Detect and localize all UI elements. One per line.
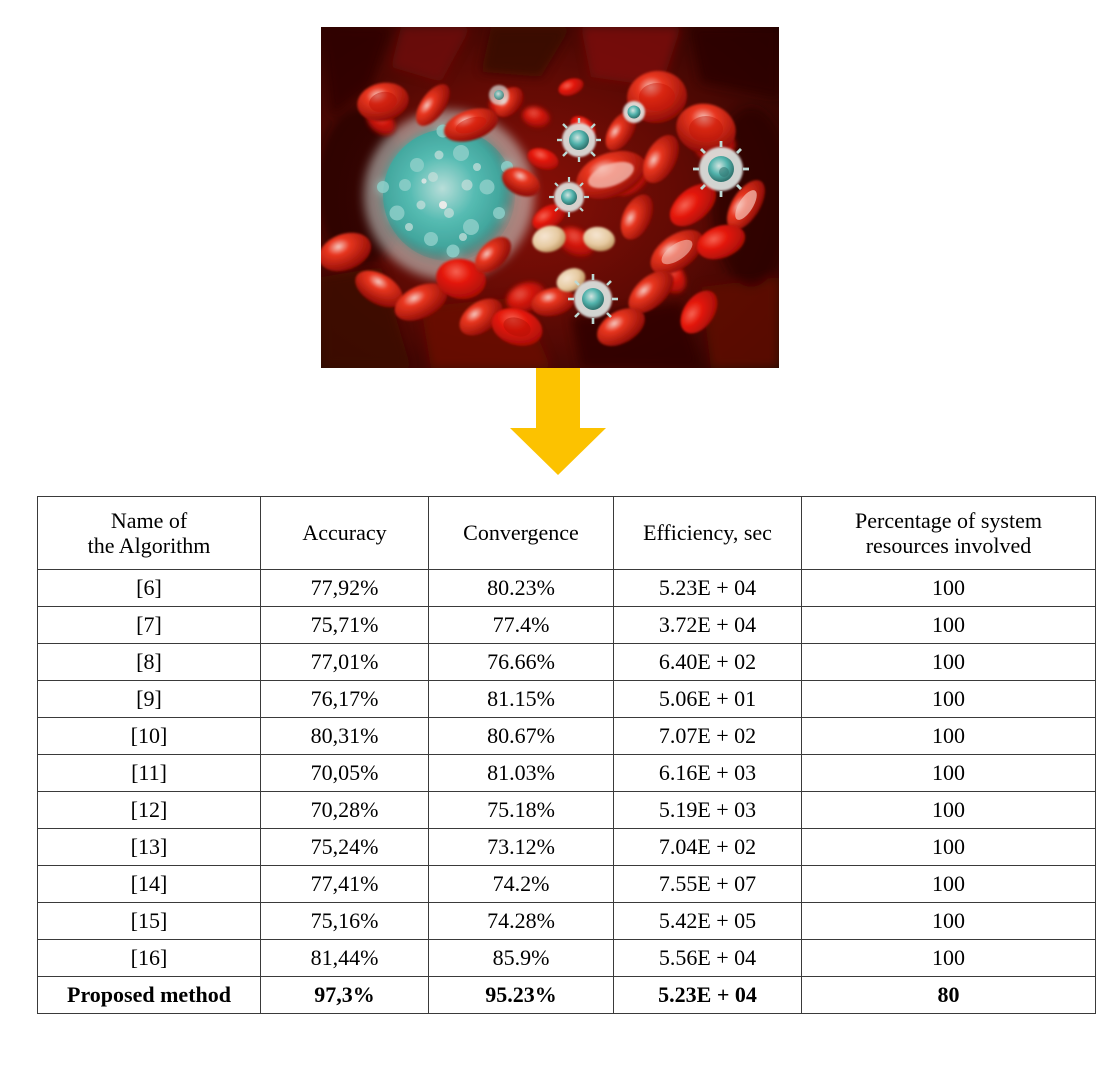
table-row: [8]77,01%76.66%6.40E + 02100	[38, 644, 1096, 681]
cell-percentage: 100	[802, 644, 1096, 681]
table-row: [6]77,92%80.23%5.23E + 04100	[38, 570, 1096, 607]
blood-cells-virus-illustration	[321, 27, 779, 368]
cell-algorithm-name: [8]	[38, 644, 261, 681]
table-row: [12]70,28%75.18%5.19E + 03100	[38, 792, 1096, 829]
table-body: [6]77,92%80.23%5.23E + 04100[7]75,71%77.…	[38, 570, 1096, 1014]
column-header-accuracy: Accuracy	[261, 497, 429, 570]
down-arrow-icon	[508, 368, 608, 476]
cell-accuracy: 70,28%	[261, 792, 429, 829]
cell-algorithm-name: [7]	[38, 607, 261, 644]
table-row: [9]76,17%81.15%5.06E + 01100	[38, 681, 1096, 718]
cell-convergence: 74.2%	[429, 866, 614, 903]
cell-percentage: 100	[802, 792, 1096, 829]
cell-efficiency: 7.04E + 02	[614, 829, 802, 866]
cell-efficiency: 6.16E + 03	[614, 755, 802, 792]
cell-convergence: 95.23%	[429, 977, 614, 1014]
table-row: [13]75,24%73.12%7.04E + 02100	[38, 829, 1096, 866]
cell-percentage: 100	[802, 940, 1096, 977]
cell-efficiency: 5.06E + 01	[614, 681, 802, 718]
cell-algorithm-name: [11]	[38, 755, 261, 792]
cell-efficiency: 6.40E + 02	[614, 644, 802, 681]
column-header-percentage: Percentage of system resources involved	[802, 497, 1096, 570]
cell-convergence: 76.66%	[429, 644, 614, 681]
cell-convergence: 74.28%	[429, 903, 614, 940]
cell-percentage: 100	[802, 570, 1096, 607]
cell-accuracy: 75,16%	[261, 903, 429, 940]
cell-percentage: 100	[802, 607, 1096, 644]
cell-algorithm-name: Proposed method	[38, 977, 261, 1014]
cell-accuracy: 77,01%	[261, 644, 429, 681]
results-table-container: Name of the Algorithm Accuracy Convergen…	[37, 496, 1095, 1014]
cell-efficiency: 5.56E + 04	[614, 940, 802, 977]
algorithm-comparison-table: Name of the Algorithm Accuracy Convergen…	[37, 496, 1096, 1014]
table-row: [15]75,16%74.28%5.42E + 05100	[38, 903, 1096, 940]
cell-accuracy: 77,92%	[261, 570, 429, 607]
cell-efficiency: 5.23E + 04	[614, 977, 802, 1014]
column-header-name: Name of the Algorithm	[38, 497, 261, 570]
cell-algorithm-name: [14]	[38, 866, 261, 903]
cell-algorithm-name: [9]	[38, 681, 261, 718]
cell-algorithm-name: [10]	[38, 718, 261, 755]
cell-algorithm-name: [15]	[38, 903, 261, 940]
cell-percentage: 100	[802, 718, 1096, 755]
cell-accuracy: 75,24%	[261, 829, 429, 866]
down-arrow	[508, 368, 608, 476]
table-row: [16]81,44%85.9%5.56E + 04100	[38, 940, 1096, 977]
cell-percentage: 100	[802, 903, 1096, 940]
cell-efficiency: 7.55E + 07	[614, 866, 802, 903]
cell-algorithm-name: [13]	[38, 829, 261, 866]
column-header-convergence: Convergence	[429, 497, 614, 570]
cell-accuracy: 80,31%	[261, 718, 429, 755]
cell-accuracy: 81,44%	[261, 940, 429, 977]
table-row: [11]70,05%81.03%6.16E + 03100	[38, 755, 1096, 792]
column-header-efficiency: Efficiency, sec	[614, 497, 802, 570]
cell-convergence: 73.12%	[429, 829, 614, 866]
cell-algorithm-name: [16]	[38, 940, 261, 977]
blood-cells-virus-figure	[321, 27, 779, 368]
table-row: Proposed method97,3%95.23%5.23E + 0480	[38, 977, 1096, 1014]
cell-percentage: 100	[802, 866, 1096, 903]
cell-percentage: 100	[802, 681, 1096, 718]
cell-efficiency: 7.07E + 02	[614, 718, 802, 755]
cell-convergence: 75.18%	[429, 792, 614, 829]
cell-percentage: 80	[802, 977, 1096, 1014]
cell-accuracy: 76,17%	[261, 681, 429, 718]
cell-accuracy: 75,71%	[261, 607, 429, 644]
cell-efficiency: 5.42E + 05	[614, 903, 802, 940]
table-header: Name of the Algorithm Accuracy Convergen…	[38, 497, 1096, 570]
table-row: [14]77,41%74.2%7.55E + 07100	[38, 866, 1096, 903]
cell-percentage: 100	[802, 829, 1096, 866]
cell-efficiency: 3.72E + 04	[614, 607, 802, 644]
cell-efficiency: 5.23E + 04	[614, 570, 802, 607]
cell-convergence: 77.4%	[429, 607, 614, 644]
table-row: [7]75,71%77.4%3.72E + 04100	[38, 607, 1096, 644]
cell-accuracy: 70,05%	[261, 755, 429, 792]
header-row: Name of the Algorithm Accuracy Convergen…	[38, 497, 1096, 570]
cell-efficiency: 5.19E + 03	[614, 792, 802, 829]
cell-convergence: 81.03%	[429, 755, 614, 792]
cell-convergence: 81.15%	[429, 681, 614, 718]
cell-convergence: 85.9%	[429, 940, 614, 977]
cell-accuracy: 77,41%	[261, 866, 429, 903]
cell-convergence: 80.67%	[429, 718, 614, 755]
cell-algorithm-name: [12]	[38, 792, 261, 829]
cell-percentage: 100	[802, 755, 1096, 792]
table-row: [10]80,31%80.67%7.07E + 02100	[38, 718, 1096, 755]
cell-accuracy: 97,3%	[261, 977, 429, 1014]
cell-convergence: 80.23%	[429, 570, 614, 607]
cell-algorithm-name: [6]	[38, 570, 261, 607]
